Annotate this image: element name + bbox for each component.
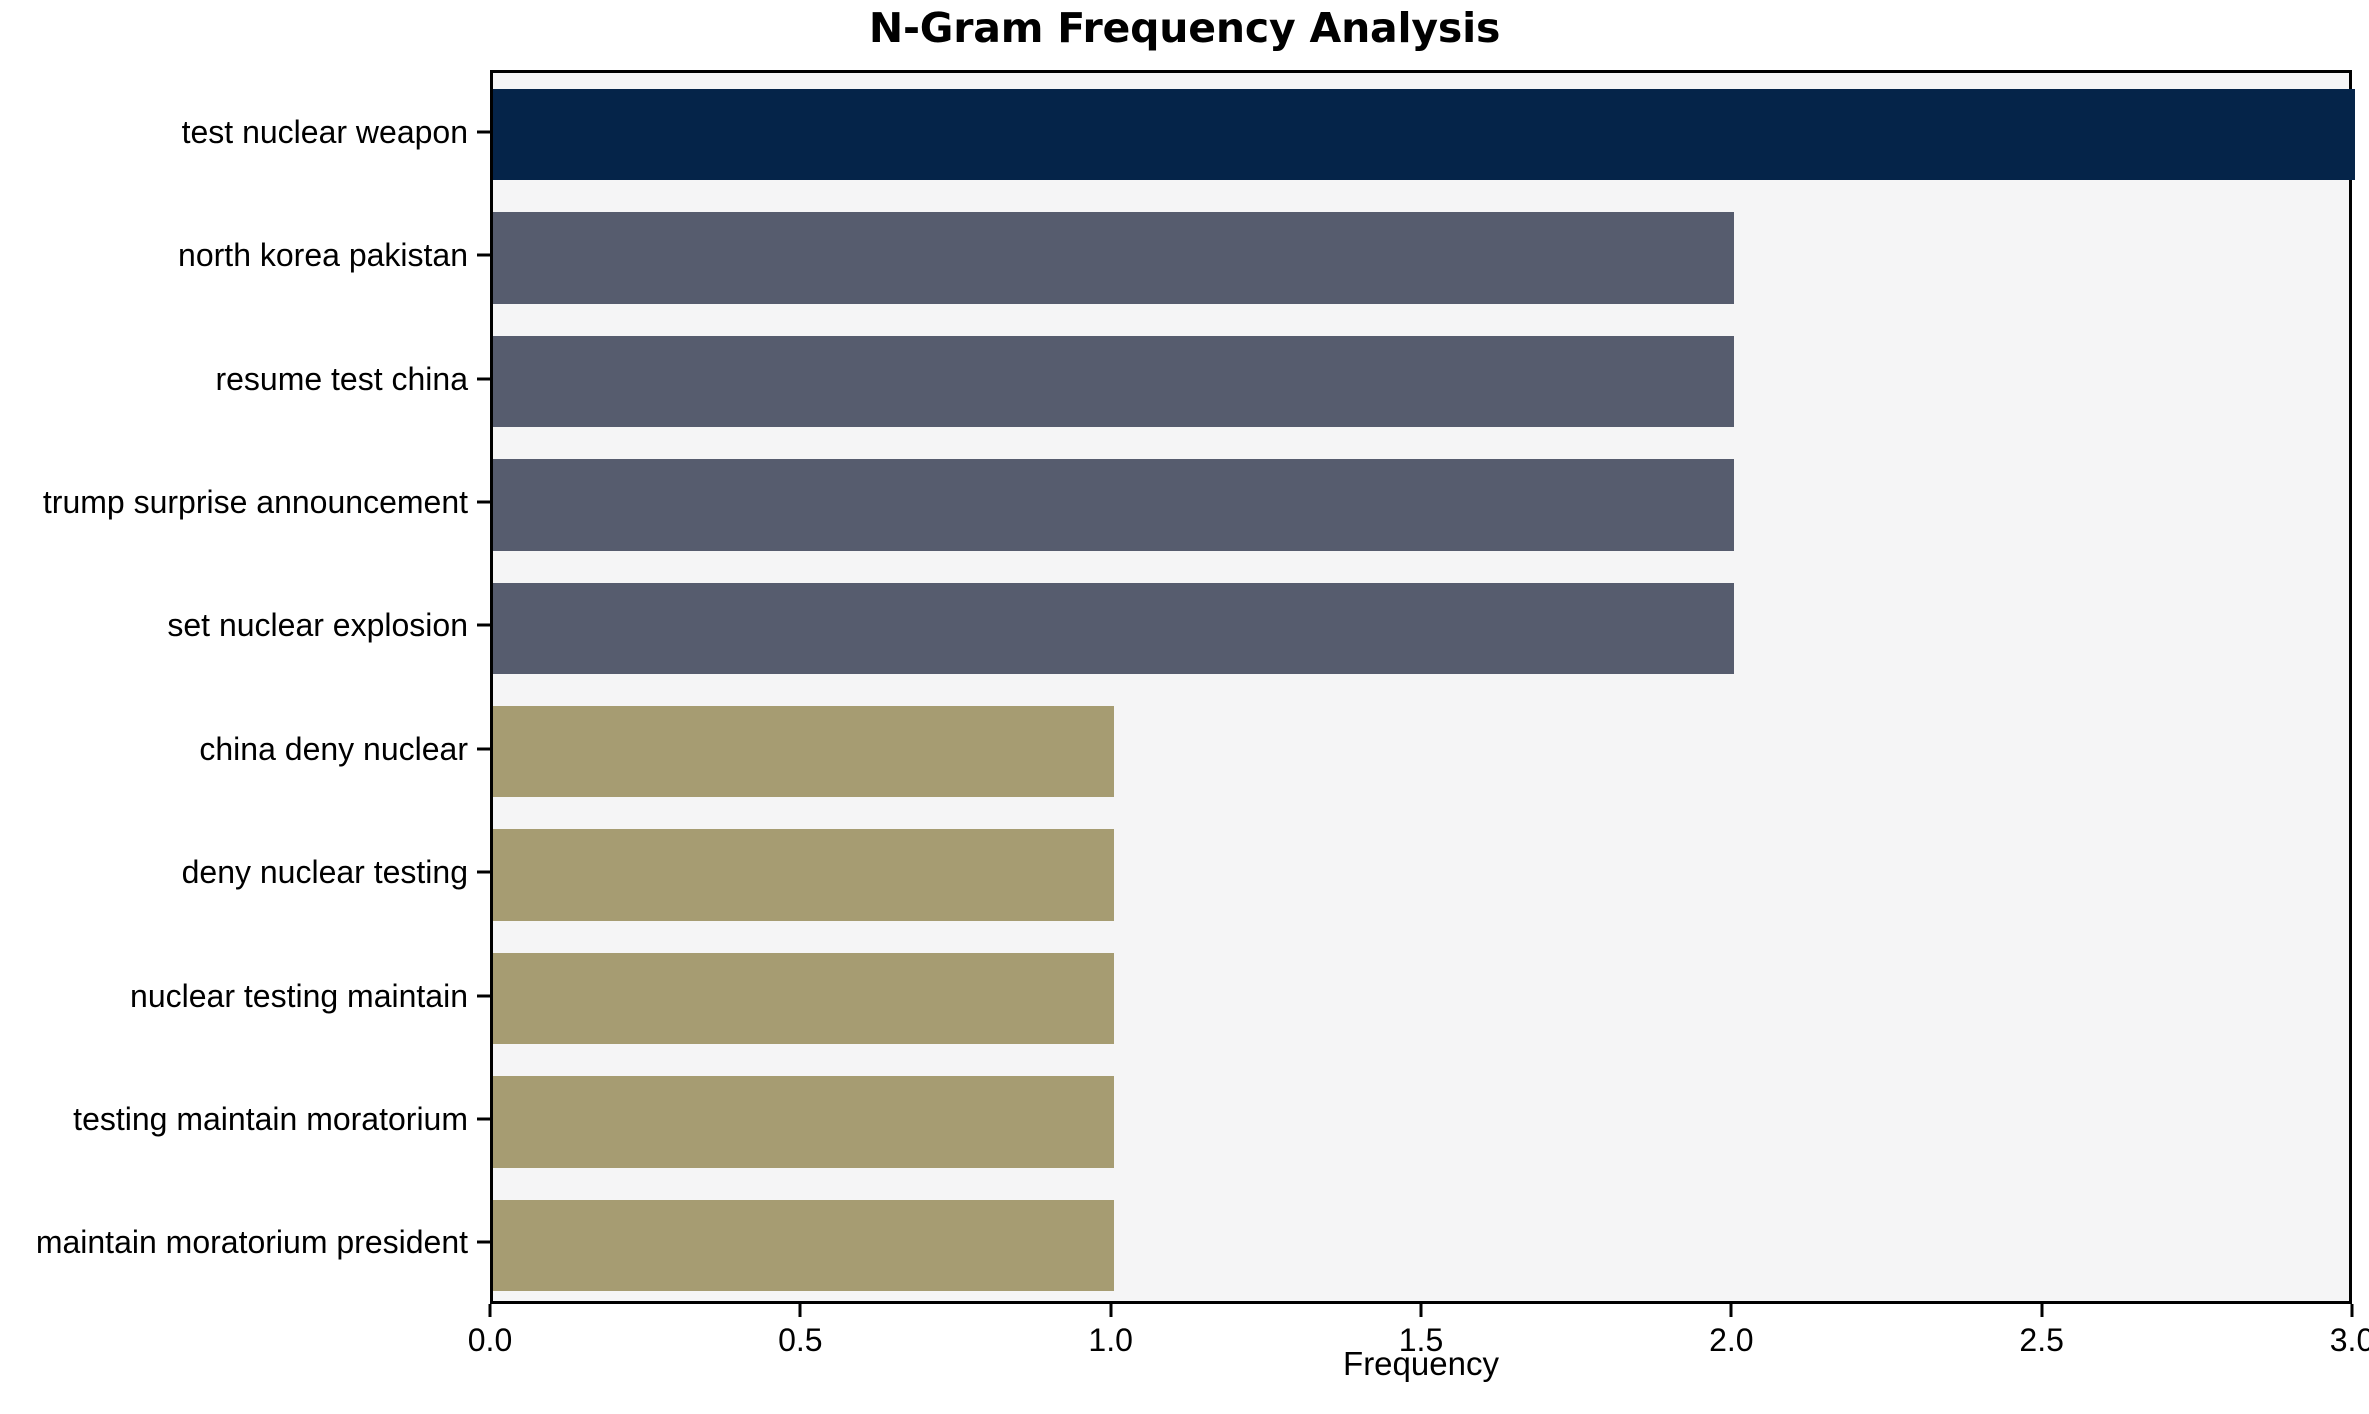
chart-figure: N-Gram Frequency Analysis test nuclear w… xyxy=(0,0,2369,1414)
y-tick-label: north korea pakistan xyxy=(178,239,468,271)
x-tick-mark xyxy=(2351,1304,2354,1317)
y-tick-mark xyxy=(477,994,490,997)
bars-layer xyxy=(493,73,2349,1301)
x-tick-mark xyxy=(1420,1304,1423,1317)
y-tick-label: maintain moratorium president xyxy=(36,1226,468,1258)
y-tick-label: trump surprise announcement xyxy=(43,486,468,518)
y-tick-label: set nuclear explosion xyxy=(167,609,468,641)
x-axis-title: Frequency xyxy=(490,1345,2352,1383)
y-tick-mark xyxy=(477,871,490,874)
bar[interactable] xyxy=(493,336,1734,427)
bar[interactable] xyxy=(493,212,1734,303)
y-tick-label: nuclear testing maintain xyxy=(130,980,468,1012)
y-tick-mark xyxy=(477,1241,490,1244)
y-tick-mark xyxy=(477,130,490,133)
bar[interactable] xyxy=(493,89,2355,180)
chart-title: N-Gram Frequency Analysis xyxy=(0,4,2369,52)
x-tick-mark xyxy=(1730,1304,1733,1317)
y-tick-label: resume test china xyxy=(215,363,468,395)
bar[interactable] xyxy=(493,583,1734,674)
bar[interactable] xyxy=(493,1200,1114,1291)
y-tick-mark xyxy=(477,377,490,380)
y-tick-mark xyxy=(477,1117,490,1120)
bar[interactable] xyxy=(493,459,1734,550)
x-tick-mark xyxy=(2040,1304,2043,1317)
y-tick-label: deny nuclear testing xyxy=(182,856,468,888)
y-tick-label: testing maintain moratorium xyxy=(73,1103,468,1135)
y-tick-label: test nuclear weapon xyxy=(182,116,468,148)
bar[interactable] xyxy=(493,953,1114,1044)
bar[interactable] xyxy=(493,706,1114,797)
bar[interactable] xyxy=(493,1076,1114,1167)
y-axis-labels: test nuclear weaponnorth korea pakistanr… xyxy=(0,70,490,1304)
x-tick-mark xyxy=(489,1304,492,1317)
plot-area xyxy=(490,70,2352,1304)
x-tick-mark xyxy=(1109,1304,1112,1317)
y-tick-mark xyxy=(477,624,490,627)
y-tick-mark xyxy=(477,254,490,257)
y-tick-label: china deny nuclear xyxy=(199,733,468,765)
x-tick-mark xyxy=(799,1304,802,1317)
y-tick-mark xyxy=(477,500,490,503)
bar[interactable] xyxy=(493,829,1114,920)
y-tick-mark xyxy=(477,747,490,750)
